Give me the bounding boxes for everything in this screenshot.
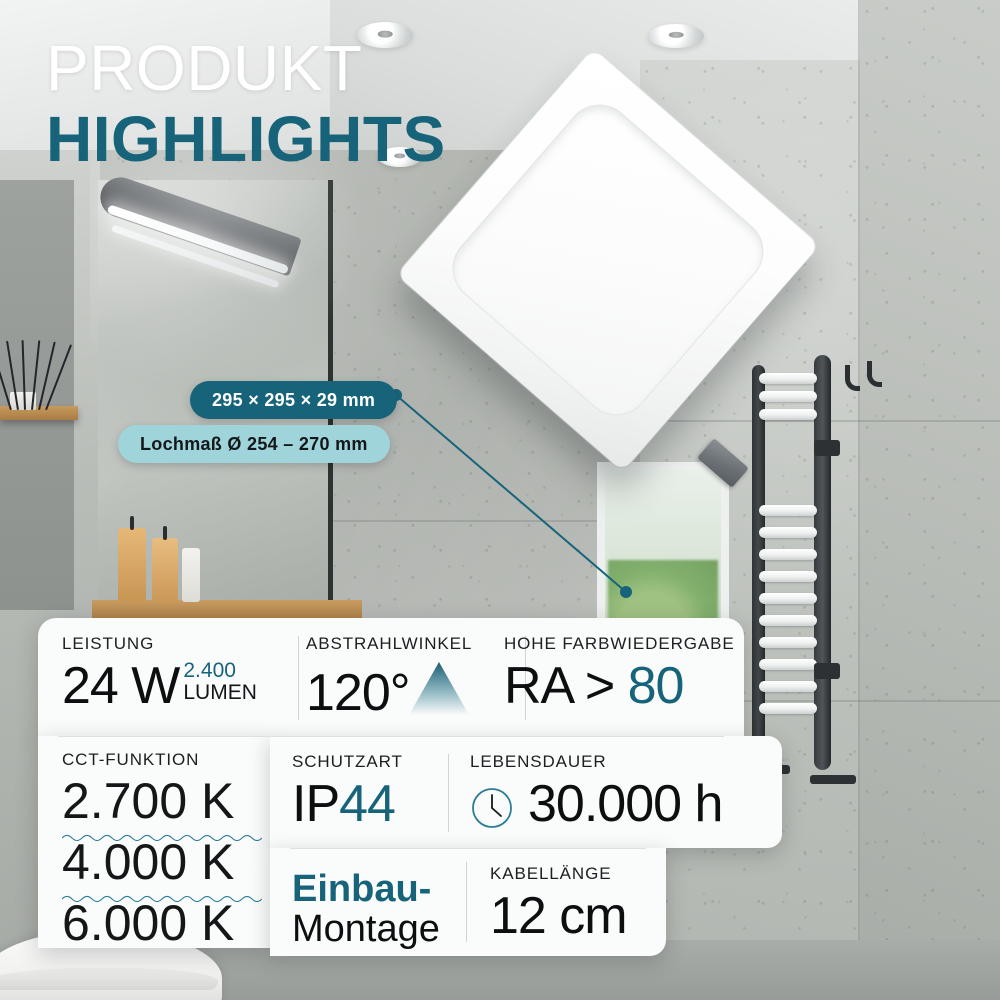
callout-cutout: Lochmaß Ø 254 – 270 mm — [118, 425, 390, 463]
pump-nozzle — [163, 526, 167, 540]
row-divider — [58, 736, 724, 737]
spec-value: IP44 — [292, 778, 448, 830]
lumen-unit: LUMEN — [183, 682, 257, 704]
bottle — [152, 538, 178, 602]
ra-value: 80 — [628, 657, 684, 715]
ip-prefix: IP — [292, 775, 339, 833]
radiator-bar — [759, 615, 817, 626]
spec-label: HOHE FARBWIEDERGABE — [504, 634, 734, 654]
callout-dimensions: 295 × 295 × 29 mm — [190, 381, 397, 419]
diffuser-sticks — [8, 336, 54, 410]
row-divider — [290, 848, 646, 849]
spec-label: ABSTRAHLWINKEL — [306, 634, 474, 654]
lumen-group: 2.400LUMEN — [183, 660, 257, 705]
radiator-valve — [814, 663, 840, 679]
mounting-clip — [697, 438, 749, 488]
radiator-valve — [814, 440, 840, 456]
spec-kabellaenge: KABELLÄNGE 12 cm — [466, 848, 662, 956]
spec-row-1: LEISTUNG 24 W2.400LUMEN ABSTRAHLWINKEL 1… — [38, 618, 744, 736]
ip-rating: 44 — [339, 775, 395, 833]
spec-label: LEISTUNG — [62, 634, 274, 654]
bottle — [118, 528, 146, 602]
spec-label: KABELLÄNGE — [490, 864, 662, 884]
clock-icon — [470, 786, 514, 839]
wall-grout-line — [858, 0, 860, 960]
spec-farbwiedergabe: HOHE FARBWIEDERGABE RA > 80 — [474, 618, 734, 736]
leistung-watts: 24 W — [62, 657, 179, 715]
radiator-bar — [759, 637, 817, 648]
spec-value: 24 W2.400LUMEN — [62, 660, 274, 712]
product-highlights-image: PRODUKT HIGHLIGHTS 295 × 295 × 29 mm Loc… — [0, 0, 1000, 1000]
spec-label: CCT-FUNKTION — [62, 750, 270, 770]
cct-value-1: 2.700 K — [62, 776, 270, 826]
spec-lebensdauer: LEBENSDAUER 30.000 h — [448, 736, 778, 848]
spec-abstrahlwinkel: ABSTRAHLWINKEL 120° — [274, 618, 474, 736]
radiator-pipe — [810, 775, 856, 784]
ra-prefix: RA > — [504, 657, 614, 715]
spec-value: 12 cm — [490, 890, 662, 942]
pump-nozzle — [130, 516, 134, 530]
beam-angle-number: 120° — [306, 664, 410, 722]
mounting-type-line-2: Montage — [292, 910, 466, 950]
far-right-wall — [860, 0, 1000, 960]
page-title: PRODUKT HIGHLIGHTS — [46, 36, 446, 176]
led-panel-diffuser — [439, 91, 778, 430]
led-panel-body — [396, 48, 819, 471]
spec-label: SCHUTZART — [292, 752, 448, 772]
spec-value: 120° — [306, 660, 474, 725]
cct-value-3: 6.000 K — [62, 898, 270, 948]
title-line-2: HIGHLIGHTS — [46, 104, 446, 176]
spec-value: 30.000 h — [470, 778, 778, 839]
cct-value-2: 4.000 K — [62, 837, 270, 887]
concrete-texture-far — [860, 0, 1000, 960]
spec-cct-block: CCT-FUNKTION 2.700 K 4.000 K 6.000 K — [38, 736, 270, 948]
radiator-bar — [759, 681, 817, 692]
spec-montageart: Einbau- Montage — [270, 848, 466, 956]
spec-row-3: Einbau- Montage KABELLÄNGE 12 cm — [270, 848, 666, 956]
spec-value: RA > 80 — [504, 660, 734, 712]
bottle — [182, 548, 200, 602]
hook-icon — [867, 361, 882, 387]
spec-label: LEBENSDAUER — [470, 752, 778, 772]
mounting-type-line-1: Einbau- — [292, 870, 466, 910]
lifetime-value: 30.000 h — [528, 775, 722, 833]
spec-leistung: LEISTUNG 24 W2.400LUMEN — [38, 618, 274, 736]
hook-icon — [845, 365, 860, 391]
spec-row-2: SCHUTZART IP44 LEBENSDAUER 30.000 h — [270, 736, 782, 848]
ceiling-spotlight — [648, 24, 704, 48]
wall-hooks — [845, 365, 901, 399]
toilet-seat — [0, 968, 218, 990]
led-panel-product — [408, 70, 808, 610]
lumen-number: 2.400 — [183, 660, 257, 682]
title-line-1: PRODUKT — [46, 36, 446, 100]
spec-schutzart: SCHUTZART IP44 — [270, 736, 448, 848]
beam-triangle-icon — [408, 660, 470, 725]
radiator-bar — [759, 659, 817, 670]
radiator-bar — [759, 703, 817, 714]
